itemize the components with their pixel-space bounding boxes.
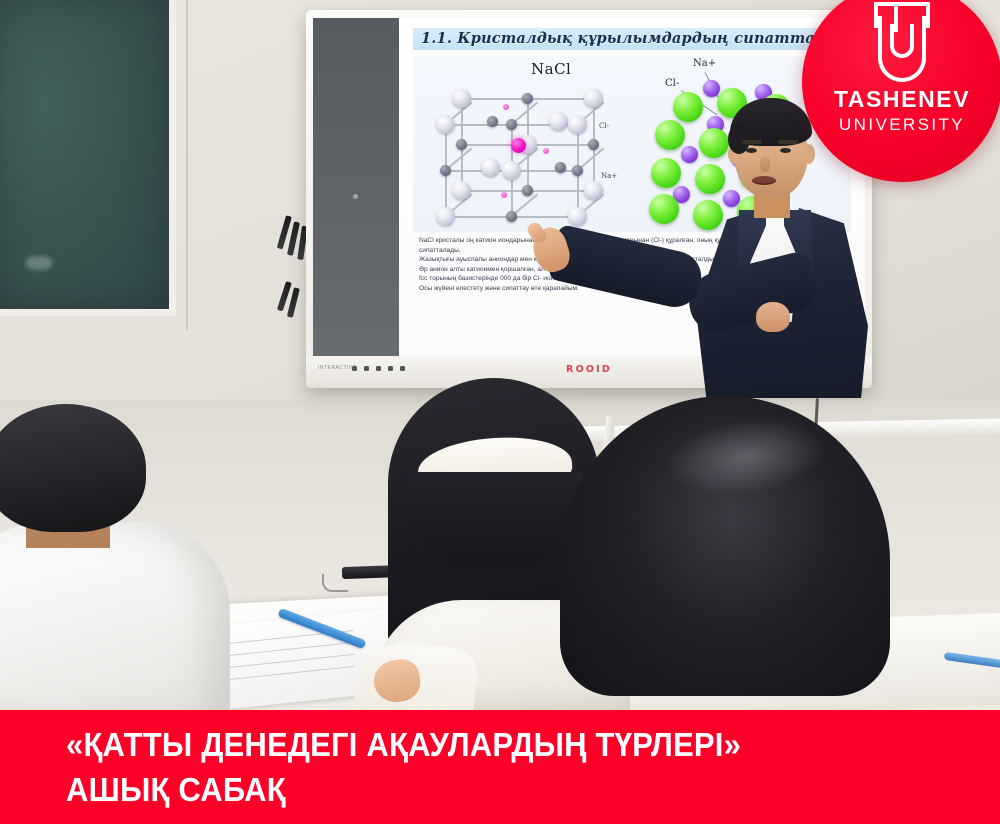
audience-shirt (0, 522, 230, 710)
presenter-hair (730, 98, 812, 146)
banner-line-2: АШЫҚ САБАҚ (66, 767, 944, 812)
nacl-lattice-diagram (441, 74, 641, 230)
chalkboard (0, 0, 176, 316)
audience-head (0, 404, 146, 532)
poster-canvas: 1.1. Кристалдық құрылымдардың сипаттамас… (0, 0, 1000, 824)
chalk-smudge (26, 256, 52, 270)
logo-letter-u-inner (890, 24, 914, 58)
cation-label: Na+ (693, 58, 716, 69)
presenter-mouth (752, 176, 776, 185)
hair-highlight (662, 409, 831, 505)
logo-university-name: TASHENEV (802, 86, 1000, 113)
presenter-eye (780, 148, 791, 153)
presenter-eyebrow (742, 140, 762, 144)
bezel-label: INTERACTIVE (318, 365, 357, 371)
slide-title: 1.1. Кристалдық құрылымдардың сипаттамас… (413, 28, 851, 50)
screen-letterbox (313, 18, 399, 356)
presenter-nose (760, 156, 770, 172)
audience-head (560, 396, 890, 696)
tu-monogram-icon (864, 2, 940, 88)
presenter-eye (746, 148, 757, 153)
wall-seam (186, 0, 188, 330)
highlighted-ion (511, 138, 526, 153)
banner-line-1: «ҚАТТЫ ДЕНЕДЕГІ АҚАУЛАРДЫҢ ТҮРЛЕРІ» (66, 722, 944, 767)
audience-member-left (0, 404, 290, 710)
presenter-eyebrow (778, 140, 798, 144)
title-banner: «ҚАТТЫ ДЕНЕДЕГІ АҚАУЛАРДЫҢ ТҮРЛЕРІ» АШЫҚ… (0, 710, 1000, 824)
display-brand-label: ROOID (566, 364, 612, 375)
bezel-indicator-dots (352, 366, 405, 371)
audience-member-right (540, 396, 940, 710)
presenter-hand (756, 302, 790, 332)
logo-university-subtitle: UNIVERSITY (802, 115, 1000, 135)
